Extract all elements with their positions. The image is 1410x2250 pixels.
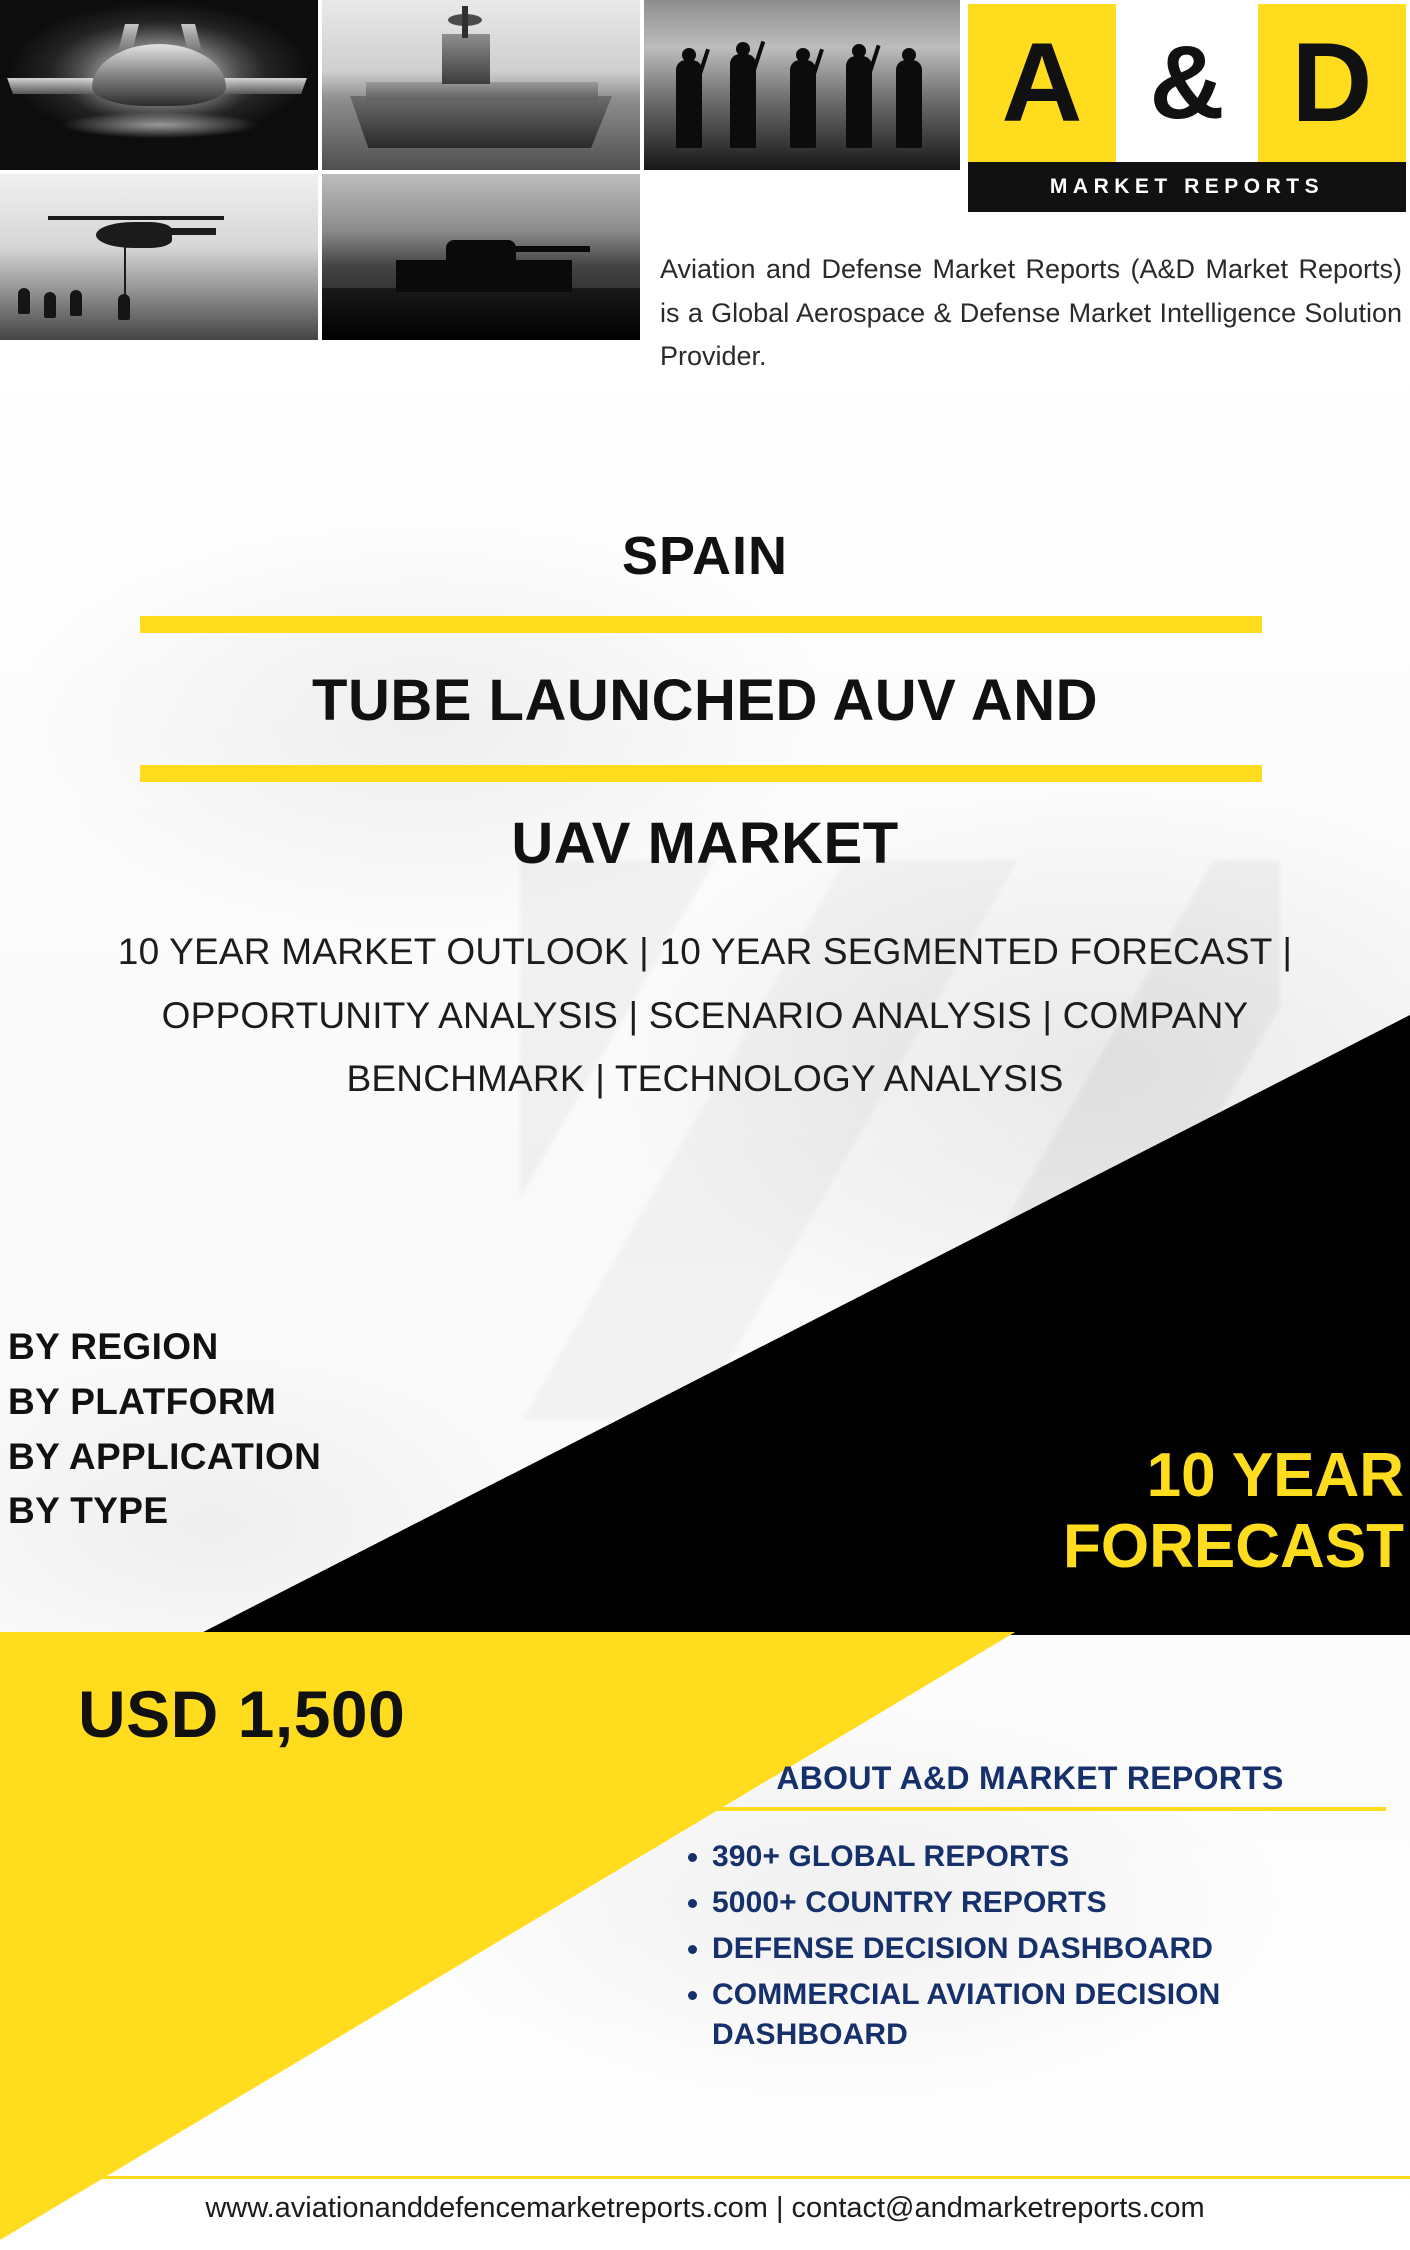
vehicle-turret-shape <box>446 240 516 264</box>
report-subtitle: 10 YEAR MARKET OUTLOOK | 10 YEAR SEGMENT… <box>40 920 1370 1111</box>
about-bullet-defense-dashboard: DEFENSE DECISION DASHBOARD <box>712 1929 1400 1969</box>
fighter-jet-photo <box>0 0 318 170</box>
report-title-line-1: TUBE LAUNCHED AUV AND <box>0 667 1410 734</box>
logo-ampersand: & <box>1149 31 1224 135</box>
helicopter-rappel-rope <box>124 246 126 300</box>
footer-contact[interactable]: www.aviationanddefencemarketreports.com … <box>0 2192 1410 2225</box>
segmentation-item-type: BY TYPE <box>8 1484 321 1539</box>
forecast-badge: 10 YEAR FORECAST <box>864 1440 1404 1583</box>
price-label: USD 1,500 <box>78 1676 405 1752</box>
helicopter-tail-shape <box>160 228 216 235</box>
logo-letter-d: D <box>1292 27 1373 139</box>
title-divider-top <box>140 616 1262 633</box>
terrain-shape <box>322 288 640 340</box>
helicopter-photo <box>0 174 318 340</box>
soldiers-silhouette-photo <box>644 0 960 170</box>
segmentation-list: BY REGION BY PLATFORM BY APPLICATION BY … <box>8 1320 321 1539</box>
segmentation-item-platform: BY PLATFORM <box>8 1375 321 1430</box>
intro-paragraph: Aviation and Defense Market Reports (A&D… <box>660 248 1402 379</box>
carrier-deck-shape <box>366 82 598 100</box>
logo-tagline-bar: MARKET REPORTS <box>968 162 1406 212</box>
armored-vehicle-photo <box>322 174 640 340</box>
helicopter-body-shape <box>96 222 172 248</box>
logo-letter-a-block: A <box>968 4 1116 162</box>
jet-wing-left-shape <box>7 78 99 94</box>
report-cover-page: A & D MARKET REPORTS Aviation and Defens… <box>0 0 1410 2250</box>
logo-tagline: MARKET REPORTS <box>1050 175 1324 199</box>
segmentation-item-application: BY APPLICATION <box>8 1430 321 1485</box>
footer-divider <box>0 2176 1410 2179</box>
aircraft-carrier-photo <box>322 0 640 170</box>
about-bullet-country-reports: 5000+ COUNTRY REPORTS <box>712 1883 1400 1923</box>
vehicle-barrel-shape <box>508 246 590 252</box>
carrier-island-shape <box>442 34 490 84</box>
helicopter-rotor-shape <box>48 216 224 220</box>
jet-runway-glow <box>60 112 260 138</box>
jet-wing-right-shape <box>215 78 307 94</box>
about-bullet-global-reports: 390+ GLOBAL REPORTS <box>712 1837 1400 1877</box>
carrier-hull-shape <box>350 96 612 148</box>
company-logo: A & D MARKET REPORTS <box>968 4 1406 216</box>
forecast-line-2: FORECAST <box>864 1511 1404 1582</box>
logo-ampersand-block: & <box>1116 4 1258 162</box>
about-bullet-commercial-dashboard: COMMERCIAL AVIATION DECISION DASHBOARD <box>712 1975 1400 2055</box>
report-title-line-2: UAV MARKET <box>0 810 1410 877</box>
logo-letter-d-block: D <box>1258 4 1406 162</box>
carrier-mast-shape <box>462 6 468 38</box>
title-divider-bottom <box>140 765 1262 782</box>
about-bullet-list: 390+ GLOBAL REPORTS 5000+ COUNTRY REPORT… <box>660 1837 1400 2054</box>
segmentation-item-region: BY REGION <box>8 1320 321 1375</box>
forecast-line-1: 10 YEAR <box>864 1440 1404 1511</box>
vehicle-hull-shape <box>396 260 572 292</box>
country-title: SPAIN <box>0 525 1410 587</box>
logo-letter-a: A <box>1002 27 1083 139</box>
about-title: ABOUT A&D MARKET REPORTS <box>660 1760 1400 1797</box>
about-panel: ABOUT A&D MARKET REPORTS 390+ GLOBAL REP… <box>660 1760 1400 2060</box>
about-underline <box>660 1807 1386 1811</box>
